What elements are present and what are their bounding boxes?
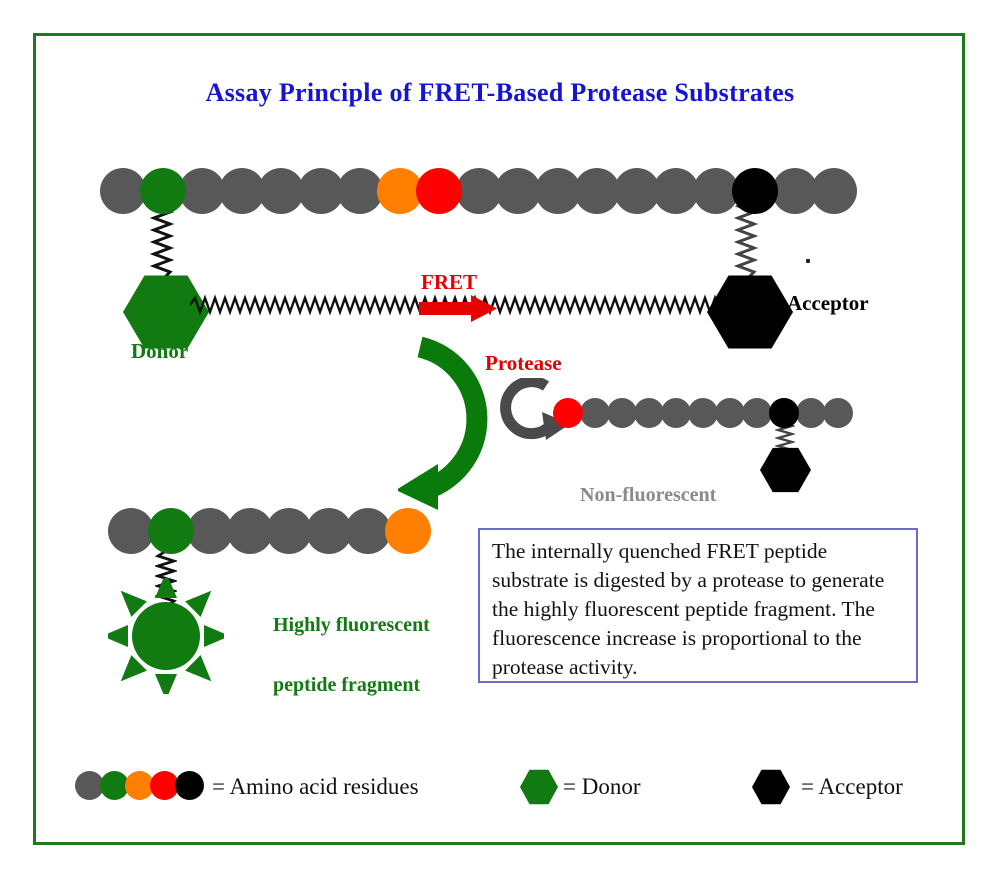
fluorescent-donor-core bbox=[132, 602, 200, 670]
non-fluorescent-fragment-chain bbox=[553, 398, 853, 428]
legend-acceptor-text: = Acceptor bbox=[801, 774, 903, 800]
amino-acid-bead-gray bbox=[823, 398, 853, 428]
legend-amino-acid-residues-text: = Amino acid residues bbox=[212, 774, 419, 800]
sunburst-ray-icon bbox=[155, 578, 177, 598]
nonfluo-label-line1: Non-fluorescent bbox=[580, 484, 716, 506]
amino-acid-bead-black bbox=[769, 398, 799, 428]
legend-bead-black bbox=[175, 771, 204, 800]
fluo-label-line2: peptide fragment bbox=[273, 674, 420, 696]
amino-acid-bead-green bbox=[148, 508, 194, 554]
fluorescent-donor-sunburst bbox=[108, 578, 224, 694]
amino-acid-bead-gray bbox=[715, 398, 745, 428]
legend-donor-text: = Donor bbox=[563, 774, 641, 800]
legend-amino-acid-swatches bbox=[75, 771, 205, 801]
fluorescent-fragment-label: Highly fluorescent peptide fragment bbox=[253, 580, 430, 730]
fret-label: FRET bbox=[421, 270, 477, 295]
amino-acid-bead-gray bbox=[661, 398, 691, 428]
description-textbox: The internally quenched FRET peptide sub… bbox=[478, 528, 918, 683]
amino-acid-bead-black bbox=[732, 168, 778, 214]
sunburst-ray-icon bbox=[108, 625, 128, 647]
amino-acid-bead-gray bbox=[607, 398, 637, 428]
amino-acid-bead-green bbox=[140, 168, 186, 214]
figure-title: Assay Principle of FRET-Based Protease S… bbox=[0, 78, 1000, 108]
stray-dot-artifact bbox=[806, 259, 810, 263]
amino-acid-bead-gray bbox=[742, 398, 772, 428]
intact-substrate-chain bbox=[100, 168, 857, 214]
protease-label: Protease bbox=[485, 351, 562, 376]
amino-acid-bead-red bbox=[553, 398, 583, 428]
amino-acid-bead-gray bbox=[796, 398, 826, 428]
amino-acid-bead-gray bbox=[580, 398, 610, 428]
fret-arrow-icon bbox=[419, 295, 497, 323]
amino-acid-bead-gray bbox=[634, 398, 664, 428]
fluo-label-line1: Highly fluorescent bbox=[273, 614, 430, 636]
fluorescent-fragment-chain bbox=[108, 508, 431, 554]
sunburst-ray-icon bbox=[155, 674, 177, 694]
donor-label: Donor bbox=[131, 339, 188, 364]
sunburst-ray-icon bbox=[204, 625, 224, 647]
figure-canvas: Assay Principle of FRET-Based Protease S… bbox=[0, 0, 1000, 885]
amino-acid-bead-orange bbox=[385, 508, 431, 554]
amino-acid-bead-red bbox=[416, 168, 462, 214]
amino-acid-bead-gray bbox=[688, 398, 718, 428]
amino-acid-bead-gray bbox=[811, 168, 857, 214]
acceptor-label: Acceptor bbox=[787, 291, 869, 316]
